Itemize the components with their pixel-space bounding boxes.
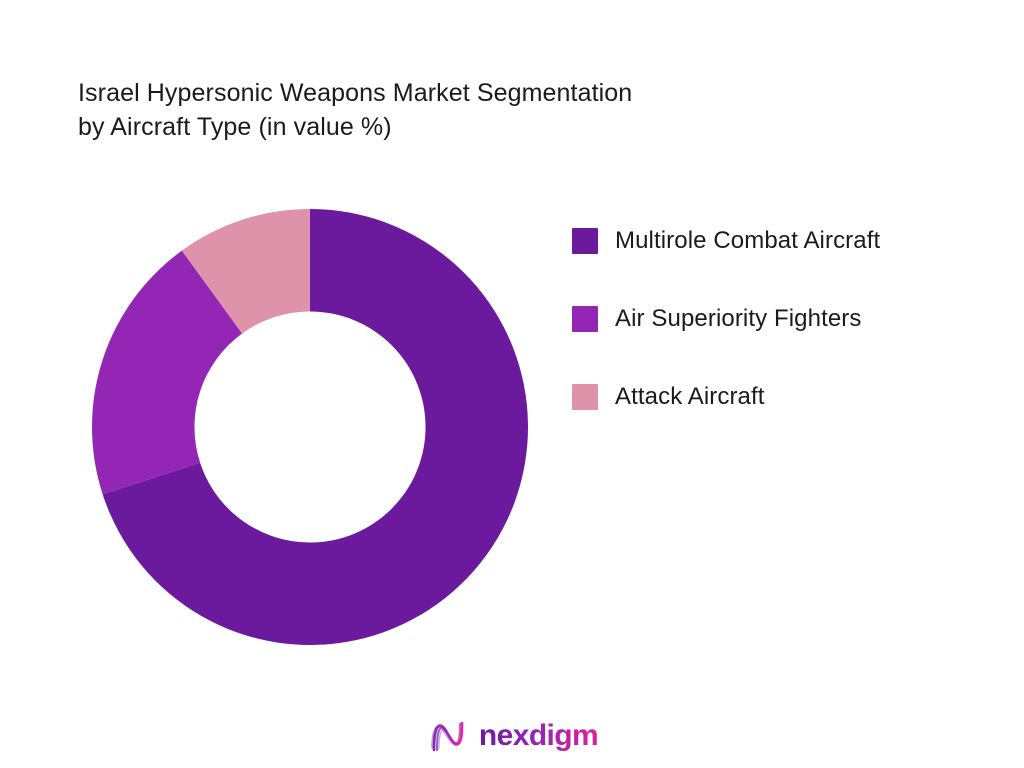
donut-chart: [92, 209, 528, 645]
brand-logo: nexdigm: [0, 714, 1024, 758]
legend-item-air-superiority-fighters[interactable]: Air Superiority Fighters: [572, 304, 992, 334]
legend-item-label: Multirole Combat Aircraft: [615, 226, 880, 256]
legend-item-attack-aircraft[interactable]: Attack Aircraft: [572, 382, 992, 412]
legend-item-label: Air Superiority Fighters: [615, 304, 861, 334]
donut-slice-group: [92, 209, 528, 645]
legend-swatch-icon: [572, 384, 598, 410]
legend-item-multirole-combat-aircraft[interactable]: Multirole Combat Aircraft: [572, 226, 992, 256]
chart-legend: Multirole Combat Aircraft Air Superiorit…: [572, 226, 992, 460]
brand-wordmark: nexdigm: [479, 721, 598, 751]
legend-swatch-icon: [572, 228, 598, 254]
donut-chart-svg: [92, 209, 528, 645]
nexdigm-swoosh-icon: [426, 714, 470, 758]
legend-swatch-icon: [572, 306, 598, 332]
page-title: Israel Hypersonic Weapons Market Segment…: [78, 76, 858, 144]
legend-item-label: Attack Aircraft: [615, 382, 765, 412]
